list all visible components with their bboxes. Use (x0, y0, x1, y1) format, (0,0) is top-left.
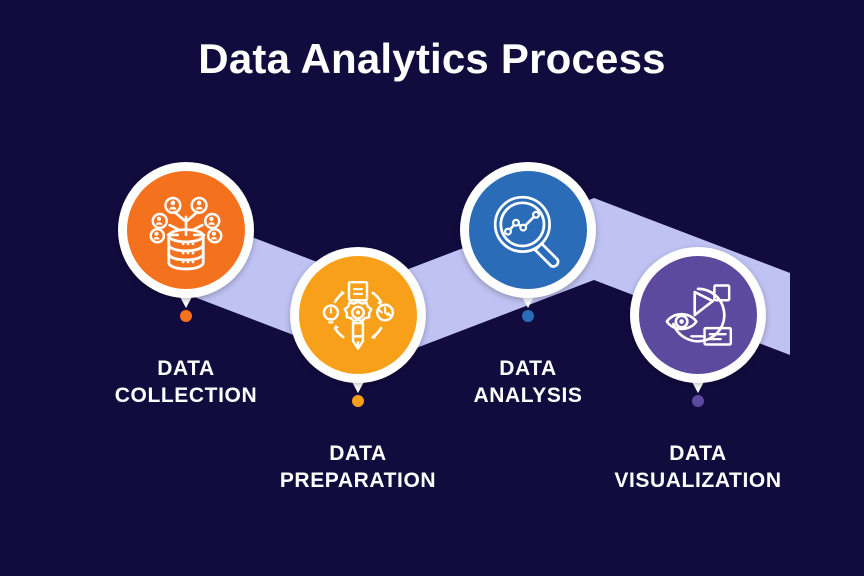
pin-4[interactable] (630, 247, 766, 383)
step-label-2: DATA PREPARATION (218, 441, 498, 495)
pie-chart-eye-icon (657, 274, 739, 356)
step-label-3: DATA ANALYSIS (388, 356, 668, 410)
step-label-1: DATA COLLECTION (46, 356, 326, 410)
gear-pencil-process-icon (317, 274, 399, 356)
pin-1[interactable] (118, 162, 254, 298)
pin-3[interactable] (460, 162, 596, 298)
pin-dot-1 (180, 310, 192, 322)
database-network-icon (145, 189, 227, 271)
step-label-4: DATA VISUALIZATION (558, 441, 838, 495)
pin-ring-4 (630, 247, 766, 383)
pin-dot-2 (352, 395, 364, 407)
pin-dot-3 (522, 310, 534, 322)
infographic-canvas: Data Analytics Process (0, 0, 864, 576)
page-title: Data Analytics Process (0, 36, 864, 82)
pin-disc-1 (127, 171, 245, 289)
pin-ring-3 (460, 162, 596, 298)
pin-disc-4 (639, 256, 757, 374)
magnifier-line-chart-icon (488, 190, 568, 270)
pin-dot-4 (692, 395, 704, 407)
pin-disc-3 (469, 171, 587, 289)
pin-ring-1 (118, 162, 254, 298)
